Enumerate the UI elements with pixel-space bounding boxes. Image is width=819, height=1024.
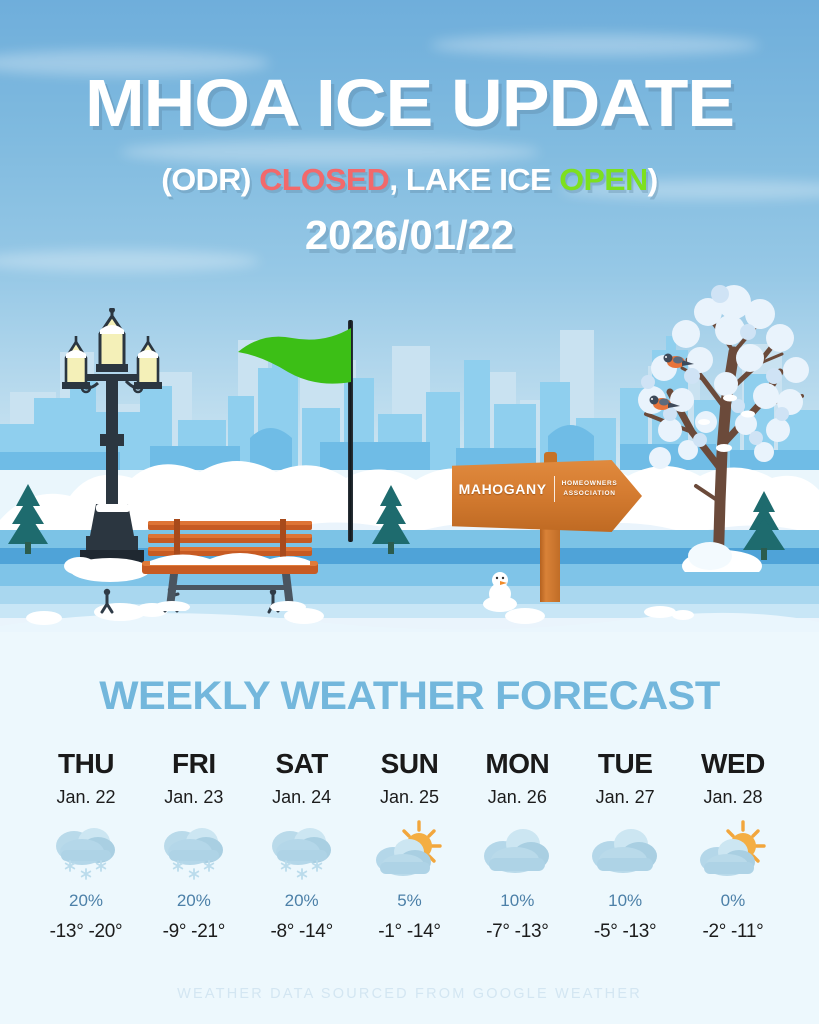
mahogany-hoa-sign: MAHOGANY HOMEOWNERS ASSOCIATION	[452, 452, 662, 602]
sign-text-group: MAHOGANY HOMEOWNERS ASSOCIATION	[458, 476, 618, 502]
forecast-precip-chance: 0%	[685, 892, 781, 909]
forecast-day-column: SATJan. 2420%-8° -14°	[254, 750, 350, 941]
snow-cloud-icon	[146, 820, 242, 882]
forecast-temp-range: -1° -14°	[361, 922, 457, 941]
forecast-day-column: SUNJan. 255%-1° -14°	[361, 750, 457, 941]
forecast-precip-chance: 20%	[38, 892, 134, 909]
forecast-day-date: Jan. 25	[361, 788, 457, 806]
subtitle-middle: , LAKE ICE	[389, 162, 559, 197]
forecast-precip-chance: 5%	[361, 892, 457, 909]
flag-cloth	[236, 326, 354, 396]
forecast-day-name: MON	[469, 750, 565, 778]
subtitle-suffix: )	[648, 162, 658, 197]
sign-main-text: MAHOGANY	[459, 481, 547, 497]
forecast-day-column: THUJan. 2220%-13° -20°	[38, 750, 134, 941]
forecast-day-name: FRI	[146, 750, 242, 778]
sun-behind-cloud-icon	[361, 820, 457, 882]
forecast-day-name: TUE	[577, 750, 673, 778]
pine-tree-center	[364, 480, 418, 556]
sign-sub-text: HOMEOWNERS ASSOCIATION	[562, 479, 618, 499]
forecast-day-date: Jan. 23	[146, 788, 242, 806]
snow-cloud-icon	[38, 820, 134, 882]
sign-divider	[554, 476, 555, 502]
forecast-day-column: MONJan. 2610%-7° -13°	[469, 750, 565, 941]
forecast-day-date: Jan. 22	[38, 788, 134, 806]
forecast-precip-chance: 20%	[254, 892, 350, 909]
forecast-day-date: Jan. 24	[254, 788, 350, 806]
park-bench	[140, 515, 320, 611]
cloud-icon	[577, 820, 673, 882]
forecast-temp-range: -8° -14°	[254, 922, 350, 941]
snow-cloud-icon	[254, 820, 350, 882]
forecast-temp-range: -13° -20°	[38, 922, 134, 941]
weekly-forecast-panel: WEEKLY WEATHER FORECAST THUJan. 2220%-13…	[0, 632, 819, 1024]
status-badge-closed: CLOSED	[259, 162, 389, 197]
forecast-temp-range: -7° -13°	[469, 922, 565, 941]
forecast-precip-chance: 20%	[146, 892, 242, 909]
sun-behind-cloud-icon	[685, 820, 781, 882]
report-date: 2026/01/22	[0, 198, 819, 259]
subtitle-prefix: (ODR)	[161, 162, 259, 197]
forecast-day-name: WED	[685, 750, 781, 778]
forecast-temp-range: -9° -21°	[146, 922, 242, 941]
forecast-temp-range: -2° -11°	[685, 922, 781, 941]
forecast-day-column: WEDJan. 280%-2° -11°	[685, 750, 781, 941]
sign-sub-line2: ASSOCIATION	[563, 490, 615, 497]
cloud-icon	[469, 820, 565, 882]
header-block: MHOA ICE UPDATE (ODR) CLOSED, LAKE ICE O…	[0, 0, 819, 259]
forecast-day-name: THU	[38, 750, 134, 778]
sign-sub-line1: HOMEOWNERS	[562, 480, 618, 487]
forecast-heading: WEEKLY WEATHER FORECAST	[0, 632, 819, 719]
forecast-day-name: SUN	[361, 750, 457, 778]
forecast-precip-chance: 10%	[577, 892, 673, 909]
forecast-day-column: FRIJan. 2320%-9° -21°	[146, 750, 242, 941]
forecast-day-date: Jan. 26	[469, 788, 565, 806]
status-badge-open: OPEN	[559, 162, 647, 197]
forecast-precip-chance: 10%	[469, 892, 565, 909]
ice-update-poster: MAHOGANY HOMEOWNERS ASSOCIATION MHOA ICE…	[0, 0, 819, 1024]
forecast-temp-range: -5° -13°	[577, 922, 673, 941]
forecast-day-date: Jan. 27	[577, 788, 673, 806]
forecast-row: THUJan. 2220%-13° -20°FRIJan. 2320%-9° -…	[0, 750, 819, 941]
page-title: MHOA ICE UPDATE	[0, 0, 819, 136]
status-subtitle: (ODR) CLOSED, LAKE ICE OPEN)	[0, 136, 819, 198]
forecast-source-footer: WEATHER DATA SOURCED FROM GOOGLE WEATHER	[0, 986, 819, 1002]
forecast-day-date: Jan. 28	[685, 788, 781, 806]
forecast-day-name: SAT	[254, 750, 350, 778]
pine-tree-left	[0, 478, 56, 556]
forecast-day-column: TUEJan. 2710%-5° -13°	[577, 750, 673, 941]
